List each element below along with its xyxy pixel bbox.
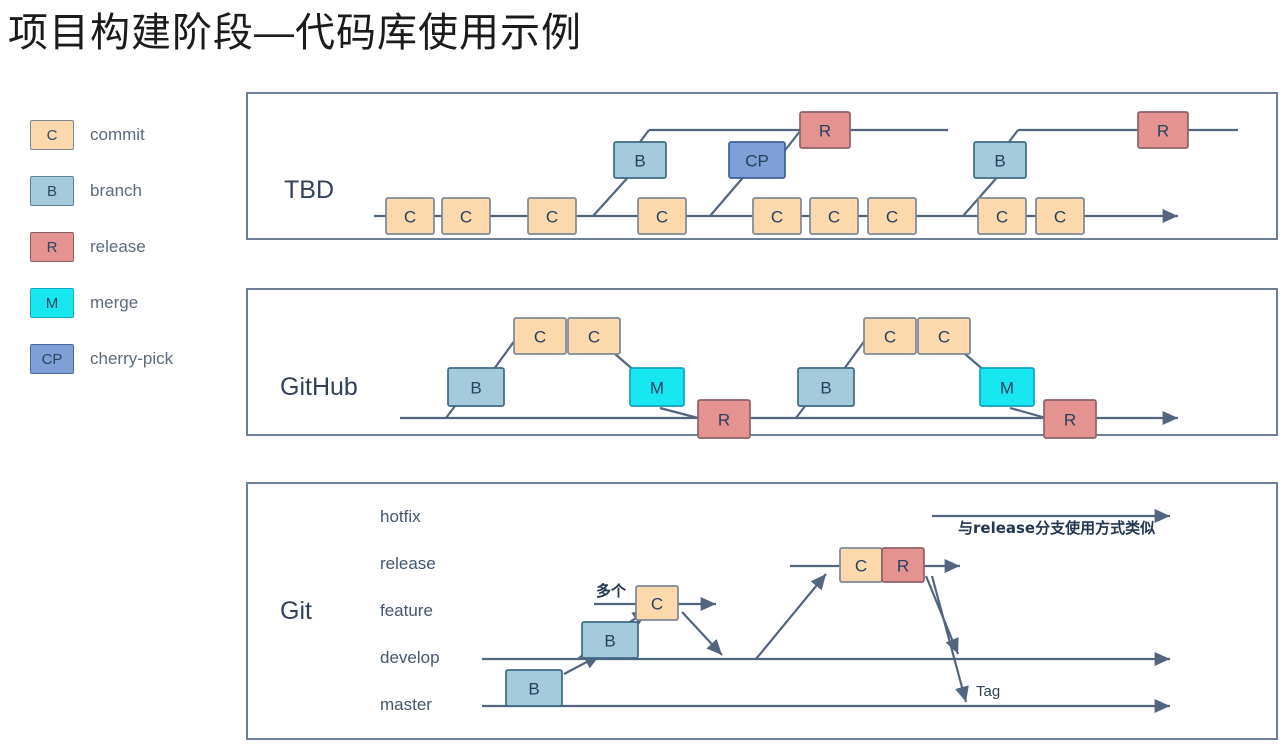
svg-text:C: C <box>404 208 416 227</box>
tbd-commit-5: C <box>753 198 801 234</box>
legend-label-merge: merge <box>90 293 138 313</box>
merge-chip-icon: M <box>30 288 74 318</box>
legend-item-merge: M merge <box>30 286 240 320</box>
legend-item-release: R release <box>30 230 240 264</box>
annotation-hotfix-note: 与release分支使用方式类似 <box>958 519 1155 537</box>
tbd-commit-1: C <box>386 198 434 234</box>
github-release-2: R <box>1044 400 1096 438</box>
svg-text:CP: CP <box>745 152 769 171</box>
tbd-commit-4: C <box>638 198 686 234</box>
tbd-release-2: R <box>1138 112 1188 148</box>
svg-text:C: C <box>651 595 663 614</box>
svg-text:M: M <box>1000 379 1014 398</box>
github-branch-2: B <box>798 368 854 406</box>
svg-text:C: C <box>884 328 896 347</box>
git-branch-develop: B <box>582 622 638 658</box>
legend-label-cherry-pick: cherry-pick <box>90 349 173 369</box>
svg-text:C: C <box>828 208 840 227</box>
page-title: 项目构建阶段—代码库使用示例 <box>8 8 582 58</box>
github-diagram: B C C M R B C <box>248 290 1280 438</box>
github-merge-1: M <box>630 368 684 406</box>
panel-github: GitHub B C C M R <box>246 288 1278 436</box>
lane-label-release: release <box>380 554 436 573</box>
svg-text:C: C <box>588 328 600 347</box>
tbd-commit-7: C <box>868 198 916 234</box>
git-branch-master: B <box>506 670 562 706</box>
legend-item-commit: C commit <box>30 118 240 152</box>
git-release: R <box>882 548 924 582</box>
svg-text:R: R <box>819 122 831 141</box>
github-branch-1: B <box>448 368 504 406</box>
branch-chip-icon: B <box>30 176 74 206</box>
svg-text:R: R <box>718 411 730 430</box>
legend-label-release: release <box>90 237 146 257</box>
lane-label-hotfix: hotfix <box>380 507 421 526</box>
svg-text:C: C <box>546 208 558 227</box>
legend-item-cherry-pick: CP cherry-pick <box>30 342 240 376</box>
svg-text:C: C <box>534 328 546 347</box>
tbd-branch-2: B <box>974 142 1026 178</box>
svg-text:M: M <box>650 379 664 398</box>
legend-label-commit: commit <box>90 125 145 145</box>
svg-text:C: C <box>855 557 867 576</box>
github-commit-2: C <box>568 318 620 354</box>
svg-text:C: C <box>656 208 668 227</box>
annotation-multiple: 多个 <box>596 582 627 600</box>
svg-text:C: C <box>886 208 898 227</box>
lane-label-develop: develop <box>380 648 440 667</box>
github-commit-1: C <box>514 318 566 354</box>
release-chip-icon: R <box>30 232 74 262</box>
tbd-commit-9: C <box>1036 198 1084 234</box>
tbd-cherry-pick-1: CP <box>729 142 785 178</box>
panel-tbd: TBD C C C <box>246 92 1278 240</box>
git-diagram: hotfix release feature develop master 与r… <box>248 484 1280 742</box>
tbd-branch-1: B <box>614 142 666 178</box>
legend-label-branch: branch <box>90 181 142 201</box>
svg-text:R: R <box>1064 411 1076 430</box>
svg-text:B: B <box>994 152 1005 171</box>
github-release-1: R <box>698 400 750 438</box>
tbd-release-1: R <box>800 112 850 148</box>
git-commit-feature: C <box>636 586 678 620</box>
svg-text:B: B <box>634 152 645 171</box>
commit-chip-icon: C <box>30 120 74 150</box>
github-commit-3: C <box>864 318 916 354</box>
panel-git: Git hotfix release feature develop maste… <box>246 482 1278 740</box>
svg-text:C: C <box>771 208 783 227</box>
tbd-diagram: C C C C C C C C <box>248 94 1280 242</box>
svg-text:R: R <box>1157 122 1169 141</box>
svg-text:C: C <box>996 208 1008 227</box>
git-commit-release: C <box>840 548 882 582</box>
lane-label-feature: feature <box>380 601 433 620</box>
tbd-commit-2: C <box>442 198 490 234</box>
tbd-commit-3: C <box>528 198 576 234</box>
svg-text:R: R <box>897 557 909 576</box>
svg-text:C: C <box>460 208 472 227</box>
tbd-commit-8: C <box>978 198 1026 234</box>
annotation-tag: Tag <box>976 683 1000 700</box>
svg-text:B: B <box>470 379 481 398</box>
github-merge-2: M <box>980 368 1034 406</box>
github-commit-4: C <box>918 318 970 354</box>
svg-text:B: B <box>820 379 831 398</box>
legend: C commit B branch R release M merge CP c… <box>30 118 240 398</box>
cherry-pick-chip-icon: CP <box>30 344 74 374</box>
svg-text:B: B <box>528 680 539 699</box>
svg-text:C: C <box>1054 208 1066 227</box>
lane-label-master: master <box>380 695 432 714</box>
svg-text:B: B <box>604 632 615 651</box>
legend-item-branch: B branch <box>30 174 240 208</box>
tbd-commit-6: C <box>810 198 858 234</box>
svg-text:C: C <box>938 328 950 347</box>
